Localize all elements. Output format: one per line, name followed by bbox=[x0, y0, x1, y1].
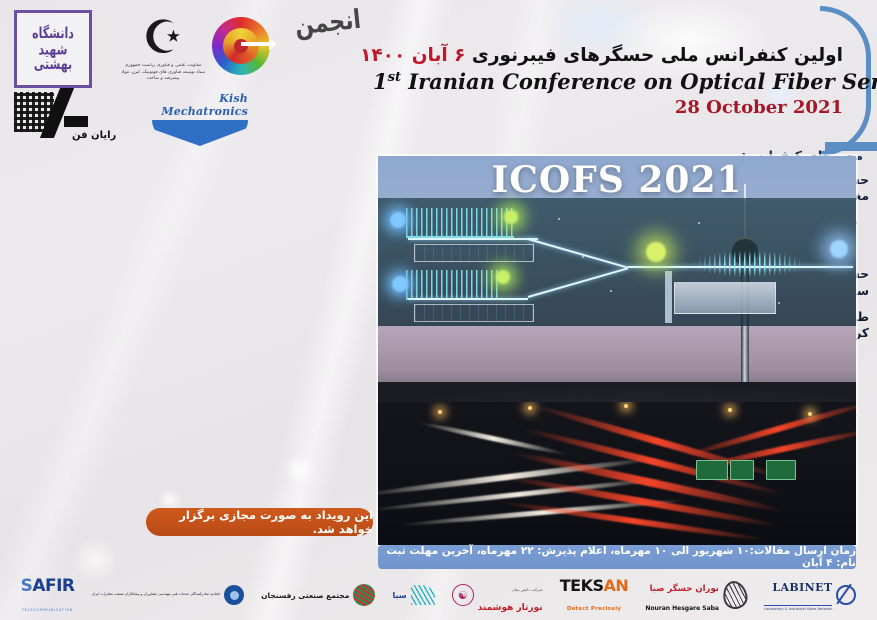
safir-wordmark: SAFIR bbox=[21, 576, 75, 596]
fiber-coil-upper bbox=[406, 208, 514, 238]
logo-rayan-fan: رایان فن bbox=[12, 90, 122, 146]
sbu-calligraphy: دانشگاهشهیدبهشتی bbox=[32, 26, 74, 73]
title-english-ordinal: st bbox=[388, 70, 401, 85]
coupler-glow bbox=[646, 242, 666, 262]
society-calligraphy: انجمن bbox=[284, 5, 373, 43]
title-block: اولین کنفرانس ملی حسگرهای فیبرنوری ۶ آبا… bbox=[373, 44, 843, 118]
iran-emblem-caption: معاونت علمی و فناوری ریاست جمهوریستاد تو… bbox=[116, 63, 211, 83]
conference-hero-photo: ICOFS 2021 bbox=[378, 156, 856, 545]
interference-waveform bbox=[674, 246, 824, 282]
iran-emblem-icon: ☪ bbox=[118, 14, 208, 60]
noortar-mark-icon: ☯ bbox=[452, 584, 474, 606]
highway-sign bbox=[766, 460, 796, 480]
input-glow-lower bbox=[392, 276, 408, 292]
light-trail bbox=[419, 420, 567, 456]
title-english-line: 1st Iranian Conference on Optical Fiber … bbox=[373, 69, 843, 94]
sponsor-nouran-hesgare-saba: نوران حسگر صبا Nouran Hesgare Saba bbox=[645, 576, 747, 614]
safir-wordmark-a: S bbox=[21, 576, 33, 596]
sponsor-labinet: LABINET Laboratory & Industrial Sales Ne… bbox=[764, 576, 856, 614]
teksan-wordmark: TEKSAN bbox=[560, 576, 629, 595]
conference-poster: دانشگاهشهیدبهشتی ☪ معاونت علمی و فناوری … bbox=[0, 0, 877, 620]
kish-swoosh-icon bbox=[152, 120, 248, 146]
output-glow bbox=[830, 240, 848, 258]
rafsanjan-mark-icon bbox=[353, 584, 375, 606]
labinet-mark-icon bbox=[836, 585, 856, 605]
saba-mark-icon bbox=[411, 585, 435, 605]
street-light bbox=[808, 412, 812, 416]
deadlines-ribbon: زمان ارسال مقالات:۱۰ شهریور الی ۱۰ مهرما… bbox=[378, 545, 856, 569]
title-persian: اولین کنفرانس ملی حسگرهای فیبرنوری bbox=[472, 45, 843, 66]
rafsanjan-persian-name: مجتمع صنعتی رفسنجان bbox=[261, 591, 349, 600]
title-persian-date: ۶ آبان ۱۴۰۰ bbox=[360, 45, 465, 66]
safir-subtitle: TELECOMMUNICATION bbox=[22, 608, 73, 612]
grating-chip-lower bbox=[414, 304, 534, 322]
acronym-container: ICOFS 2021 bbox=[378, 156, 856, 204]
nouran-english-name: Nouran Hesgare Saba bbox=[645, 605, 719, 612]
waveguide-upper bbox=[408, 238, 538, 240]
teksan-wordmark-b: AN bbox=[603, 576, 628, 595]
logo-shahid-beheshti-university: دانشگاهشهیدبهشتی bbox=[14, 10, 92, 88]
title-english-date: 28 October 2021 bbox=[373, 97, 843, 118]
y-branch-coupler bbox=[528, 236, 634, 300]
sponsor-teksan: TEKSAN Detect Precisely bbox=[560, 576, 629, 614]
grating-chip-upper bbox=[414, 244, 534, 262]
union-subtitle: اتحادیه صادرکنندگان خدمات فنی مهندسی مشا… bbox=[92, 592, 220, 597]
spark bbox=[558, 218, 560, 220]
safir-wordmark-b: AFIR bbox=[32, 576, 74, 596]
acronym-title: ICOFS 2021 bbox=[491, 159, 742, 201]
input-glow-upper bbox=[390, 212, 406, 228]
street-light bbox=[624, 404, 628, 408]
sponsor-telecom-exporters-union: اتحادیه صادرکنندگان خدمات فنی مهندسی مشا… bbox=[92, 585, 244, 605]
rayan-fan-label: رایان فن bbox=[72, 130, 116, 141]
logo-optics-photonics-society-iran bbox=[205, 8, 279, 82]
title-english: Iranian Conference on Optical Fiber Sens… bbox=[408, 69, 877, 94]
teksan-wordmark-a: TEKS bbox=[560, 576, 604, 595]
opsi-arrow-icon bbox=[241, 42, 271, 46]
coil-glow-upper bbox=[504, 210, 518, 224]
logo-iran-emblem: ☪ معاونت علمی و فناوری ریاست جمهوریستاد … bbox=[118, 14, 208, 90]
rayan-bar-icon bbox=[64, 116, 88, 127]
photonic-circuit-illustration bbox=[378, 198, 856, 326]
virtual-event-badge: این رویداد به صورت مجازی برگزار خواهد شد… bbox=[146, 508, 373, 536]
sponsor-saba: سبا bbox=[392, 585, 434, 605]
spark bbox=[778, 302, 780, 304]
fiber-coil-lower bbox=[406, 270, 498, 300]
waveguide-lower bbox=[408, 298, 528, 300]
nouran-mark-icon bbox=[720, 579, 749, 611]
title-persian-line: اولین کنفرانس ملی حسگرهای فیبرنوری ۶ آبا… bbox=[373, 44, 843, 67]
noortar-subtitle: شرکت دانش بنیان bbox=[512, 587, 543, 592]
labinet-subtitle: Laboratory & Industrial Sales Network bbox=[764, 605, 832, 611]
saba-persian-name: سبا bbox=[392, 591, 406, 600]
sponsor-noortar-hooshmand: شرکت دانش بنیان نورتار هوشمند ☯ bbox=[452, 576, 543, 614]
sponsor-bar: LABINET Laboratory & Industrial Sales Ne… bbox=[0, 570, 877, 620]
union-mark-icon bbox=[224, 585, 244, 605]
sponsor-safir: SAFIR TELECOMMUNICATION bbox=[21, 576, 75, 615]
sponsor-rafsanjan-industrial-complex: مجتمع صنعتی رفسنجان bbox=[261, 584, 375, 606]
logo-iranian-laser-photonics-society: انجمن bbox=[285, 12, 371, 84]
sensor-caliper bbox=[674, 282, 776, 314]
logo-kish-mechatronics: Kish Mechatronics bbox=[140, 92, 248, 142]
highway-sign bbox=[730, 460, 754, 480]
spark bbox=[698, 222, 700, 224]
street-light bbox=[438, 410, 442, 414]
spark bbox=[582, 256, 584, 258]
street-light bbox=[728, 408, 732, 412]
spark bbox=[610, 290, 612, 292]
teksan-tagline: Detect Precisely bbox=[567, 606, 621, 612]
nouran-persian-name: نوران حسگر صبا bbox=[650, 584, 719, 594]
kish-wordmark: Kish Mechatronics bbox=[140, 92, 248, 118]
noortar-persian-name: نورتار هوشمند bbox=[478, 603, 543, 613]
labinet-wordmark: LABINET bbox=[772, 581, 832, 594]
highway-sign bbox=[696, 460, 728, 480]
highway-light-trails bbox=[378, 402, 856, 545]
street-light bbox=[528, 406, 532, 410]
title-english-number: 1 bbox=[373, 69, 388, 94]
coil-glow-lower bbox=[496, 270, 510, 284]
